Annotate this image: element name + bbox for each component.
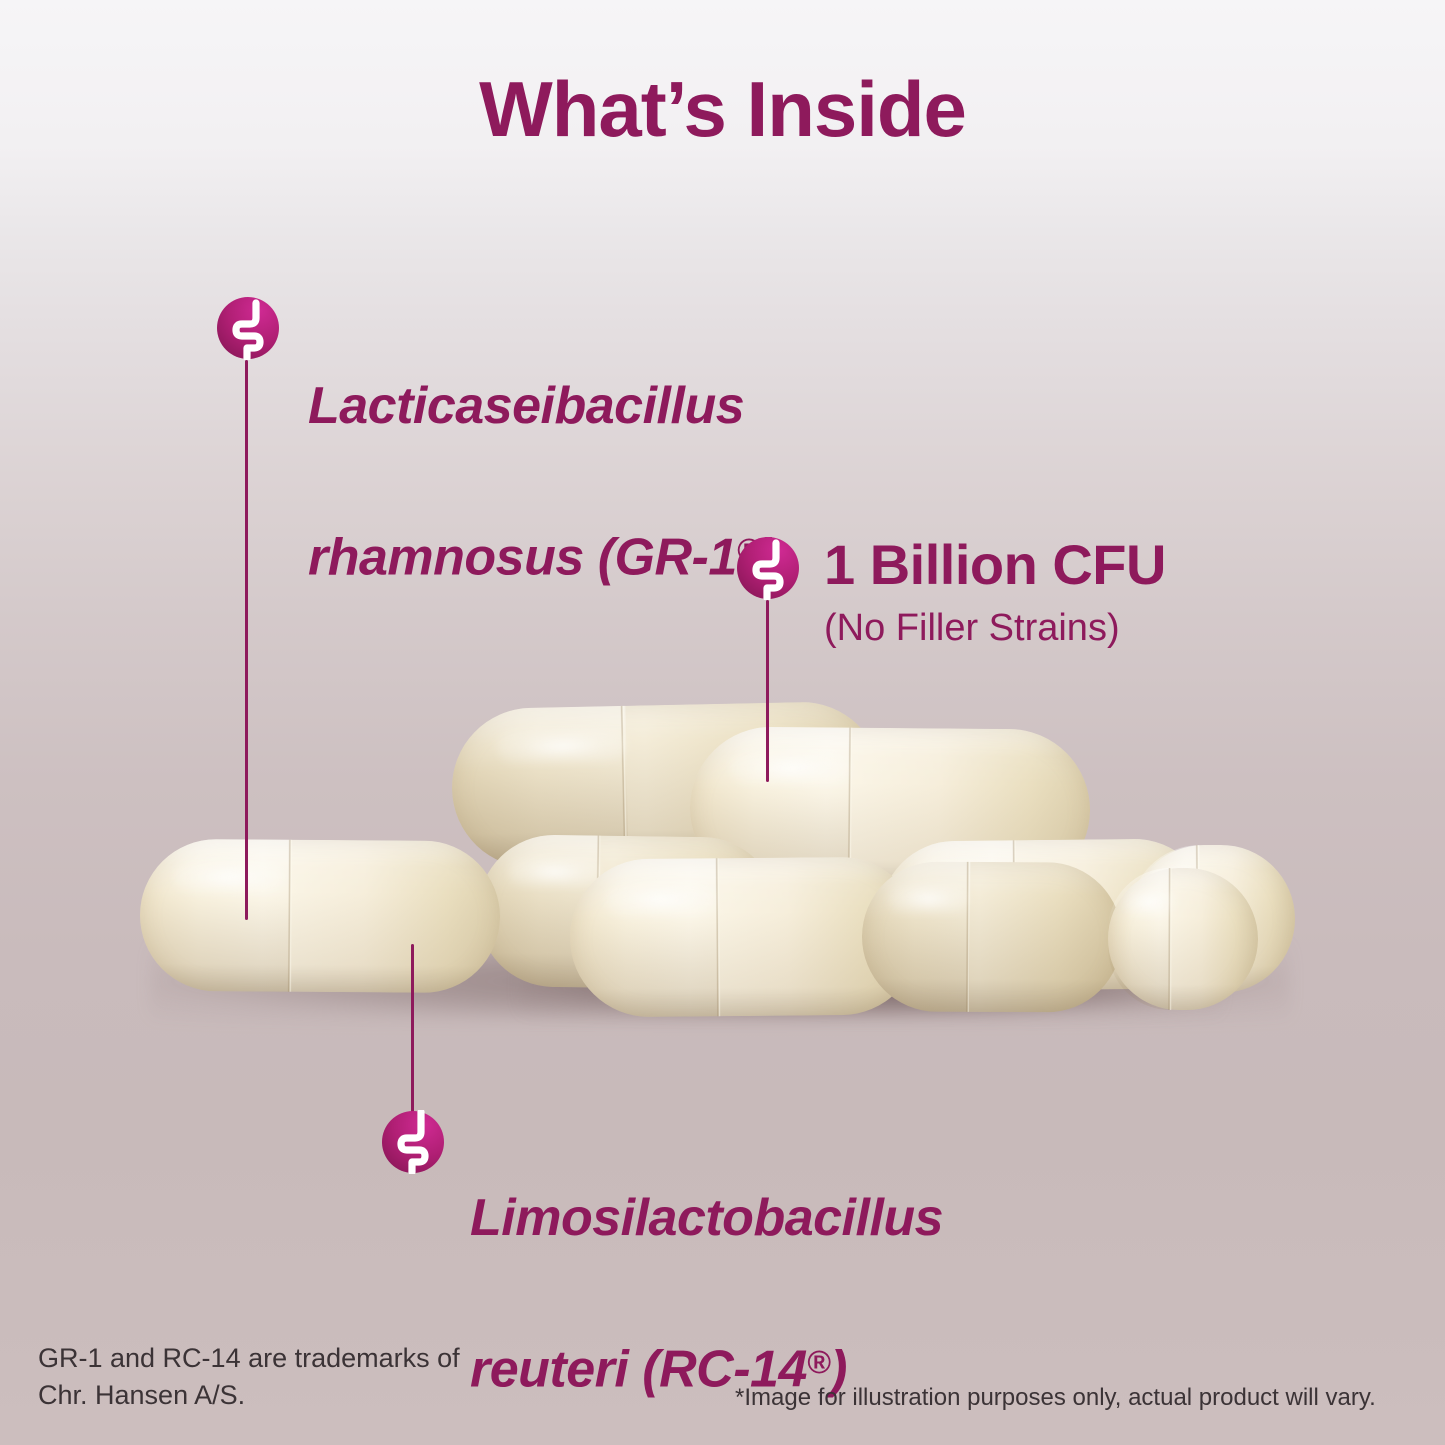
registered-mark: ® bbox=[807, 1344, 830, 1380]
leader-line-gr1 bbox=[245, 360, 248, 920]
callout-sublabel-cfu: (No Filler Strains) bbox=[824, 605, 1120, 651]
page-title: What’s Inside bbox=[0, 64, 1445, 154]
capsule bbox=[1108, 868, 1258, 1011]
capsule bbox=[862, 861, 1123, 1012]
gut-icon bbox=[216, 296, 280, 360]
product-capsule-pile bbox=[0, 640, 1445, 1070]
gut-icon bbox=[381, 1110, 445, 1174]
capsule bbox=[139, 839, 500, 994]
footnote-disclaimer: *Image for illustration purposes only, a… bbox=[735, 1382, 1435, 1414]
gut-icon bbox=[736, 536, 800, 600]
footnote-trademark: GR-1 and RC-14 are trademarks of Chr. Ha… bbox=[38, 1340, 658, 1414]
leader-line-cfu bbox=[766, 600, 769, 782]
infographic-canvas: What’s Inside bbox=[0, 0, 1445, 1445]
callout-label-cfu: 1 Billion CFU bbox=[824, 533, 1444, 597]
leader-line-rc14 bbox=[411, 944, 414, 1122]
